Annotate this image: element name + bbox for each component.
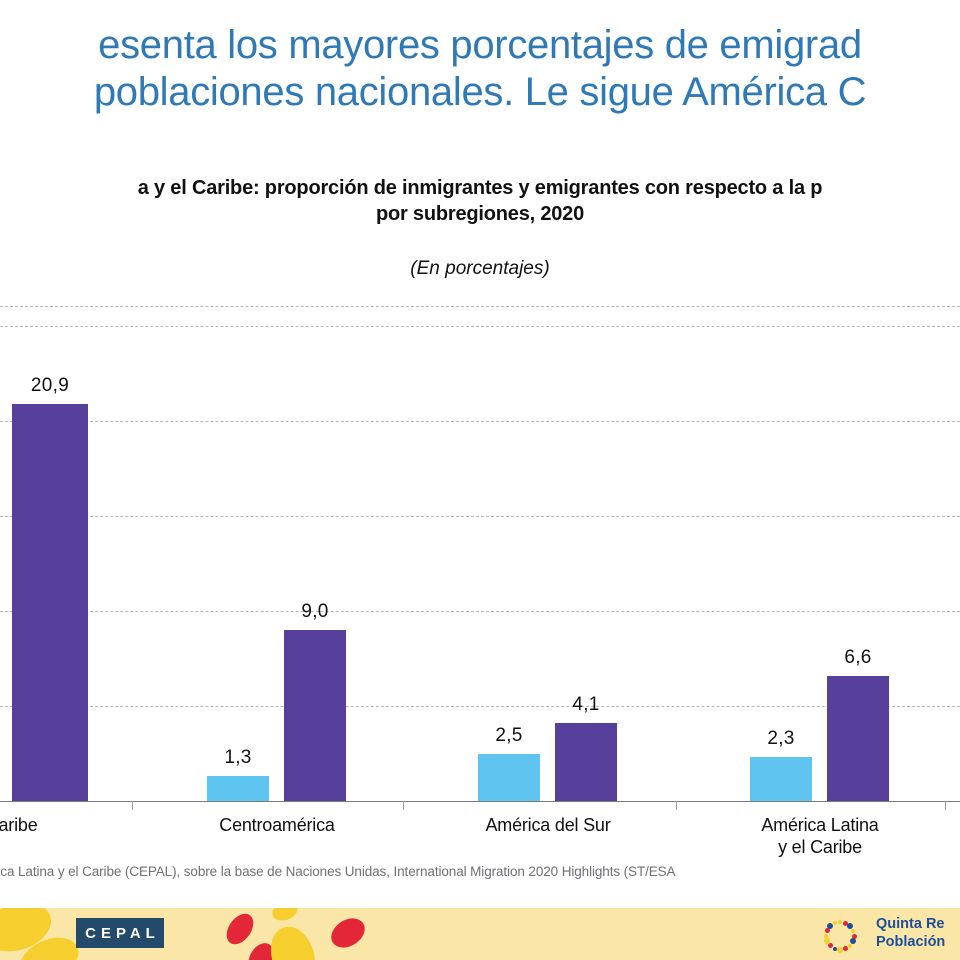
bar-value-label-1: 1,3 (198, 747, 278, 769)
quinta-logo-dot (824, 934, 828, 938)
bar-2[interactable] (284, 630, 346, 801)
gridline-5 (0, 706, 960, 707)
gridline-top (0, 306, 960, 307)
slide-root: esenta los mayores porcentajes de emigra… (0, 0, 960, 960)
bar-0[interactable] (12, 404, 88, 801)
quinta-logo-dot (848, 944, 852, 948)
decor-ellipse-yellow-3 (270, 908, 301, 924)
gridline-25 (0, 326, 960, 327)
bar-5[interactable] (750, 757, 812, 801)
bar-value-label-6: 6,6 (818, 647, 898, 669)
footer-band: CEPAL Quinta Re Población (0, 908, 960, 960)
x-axis-category-label-2: América del Sur (438, 815, 658, 837)
x-axis-tick-1 (403, 801, 404, 810)
x-axis-tick-3 (945, 801, 946, 810)
quinta-logo-dot (828, 943, 833, 948)
page-title: esenta los mayores porcentajes de emigra… (0, 22, 960, 116)
x-axis-category-label-1: Centroamérica (167, 815, 387, 837)
bar-chart: 20,91,39,02,54,12,36,6aribeCentroamérica… (0, 300, 960, 820)
quinta-logo-dot (837, 947, 843, 953)
bar-1[interactable] (207, 776, 269, 801)
quinta-logo-dot (833, 947, 837, 951)
bar-value-label-4: 4,1 (546, 694, 626, 716)
decor-ellipse-red-3 (326, 912, 370, 953)
quinta-logo-dot (843, 946, 848, 951)
quinta-logo-dot (833, 921, 837, 925)
x-axis-tick-2 (676, 801, 677, 810)
chart-units-note: (En porcentajes) (0, 258, 960, 280)
bar-6[interactable] (827, 676, 889, 801)
x-axis-tick-0 (132, 801, 133, 810)
gridline-20 (0, 421, 960, 422)
cepal-logo-text: CEPAL (80, 925, 160, 942)
slide-title-container: esenta los mayores porcentajes de emigra… (0, 22, 960, 116)
quinta-logo-dot (827, 923, 833, 929)
quinta-reunion-label: Quinta Re Población (876, 916, 960, 951)
source-note: nica para América Latina y el Caribe (CE… (0, 864, 960, 879)
bar-value-label-2: 9,0 (275, 601, 355, 623)
x-axis-line (0, 801, 960, 802)
quinta-logo-dot (851, 929, 855, 933)
gridline-15 (0, 516, 960, 517)
quinta-logo-dot (838, 920, 842, 924)
quinta-reunion-logo-icon (820, 917, 860, 955)
bar-4[interactable] (555, 723, 617, 801)
bar-value-label-3: 2,5 (469, 725, 549, 747)
decor-ellipse-red-1 (221, 909, 259, 949)
decor-ellipse-yellow-4 (264, 921, 322, 960)
bar-value-label-0: 20,9 (10, 375, 90, 397)
x-axis-category-label-0: aribe (0, 815, 128, 837)
bar-3[interactable] (478, 754, 540, 802)
cepal-logo: CEPAL (76, 918, 164, 948)
gridline-10 (0, 611, 960, 612)
plot-area: 20,91,39,02,54,12,36,6aribeCentroamérica… (0, 300, 960, 820)
chart-title-text: a y el Caribe: proporción de inmigrantes… (0, 176, 960, 227)
x-axis-category-label-3: América Latina y el Caribe (710, 815, 930, 859)
chart-subtitle-container: a y el Caribe: proporción de inmigrantes… (0, 176, 960, 227)
bar-value-label-5: 2,3 (741, 728, 821, 750)
